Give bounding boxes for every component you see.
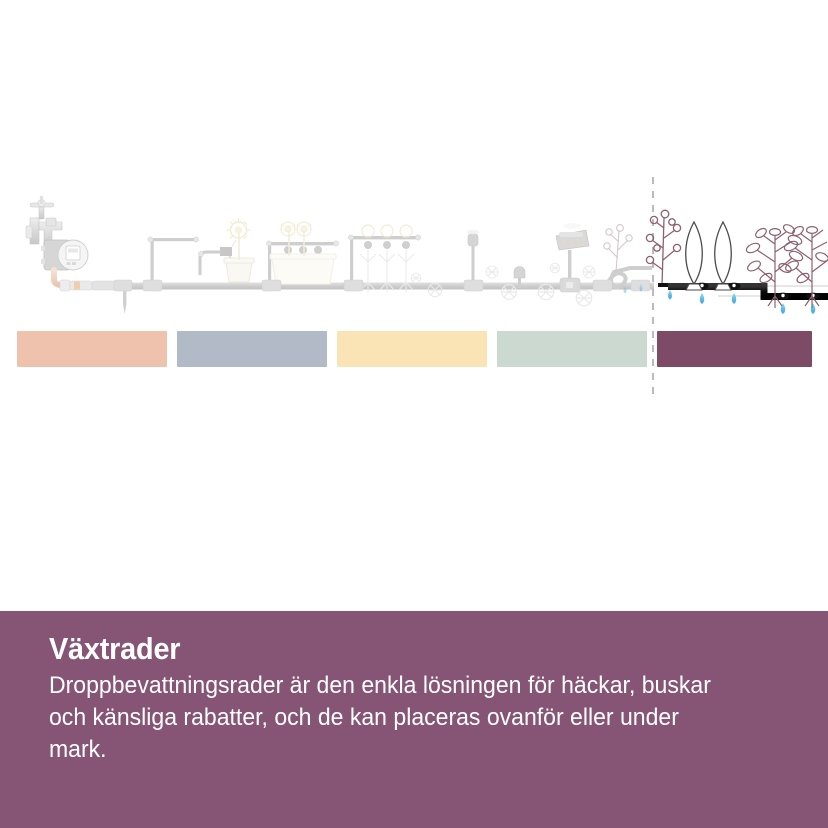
irrigation-diagram <box>0 0 828 611</box>
water-drop <box>700 293 705 304</box>
vaxtrader-section <box>646 210 828 314</box>
faded-left-systems <box>26 196 654 314</box>
oscillating-sprinkler-icon <box>556 223 589 292</box>
banner-title: Växtrader <box>49 633 731 666</box>
page-root: Växtrader Droppbevattningsrader är den e… <box>0 0 828 828</box>
info-banner: Växtrader Droppbevattningsrader är den e… <box>0 611 828 828</box>
planter-box-row <box>262 222 339 291</box>
topiary-tree <box>715 222 732 290</box>
diagram-canvas <box>0 0 828 611</box>
water-drop <box>732 293 737 304</box>
swatch-spray[interactable] <box>17 331 167 367</box>
swatch-soaker[interactable] <box>497 331 647 367</box>
hose-connector-icon <box>60 280 118 291</box>
tee-junction <box>114 280 132 291</box>
seedling-row <box>344 225 421 292</box>
topiary-tree <box>686 222 703 290</box>
banner-description: Droppbevattningsrader är den enkla lösni… <box>49 670 738 767</box>
flowering-stem-left <box>604 225 632 272</box>
swatch-vaxtrader[interactable] <box>657 331 812 367</box>
popup-sprinkler-icon <box>464 230 483 291</box>
drip-emitter <box>777 293 790 300</box>
swatch-sprinkler[interactable] <box>177 331 327 367</box>
swatch-micro[interactable] <box>337 331 487 367</box>
water-timer-icon <box>41 240 88 270</box>
water-drop <box>668 290 672 300</box>
potted-plant-dripper <box>198 218 254 282</box>
flowering-stem-right <box>646 210 680 286</box>
